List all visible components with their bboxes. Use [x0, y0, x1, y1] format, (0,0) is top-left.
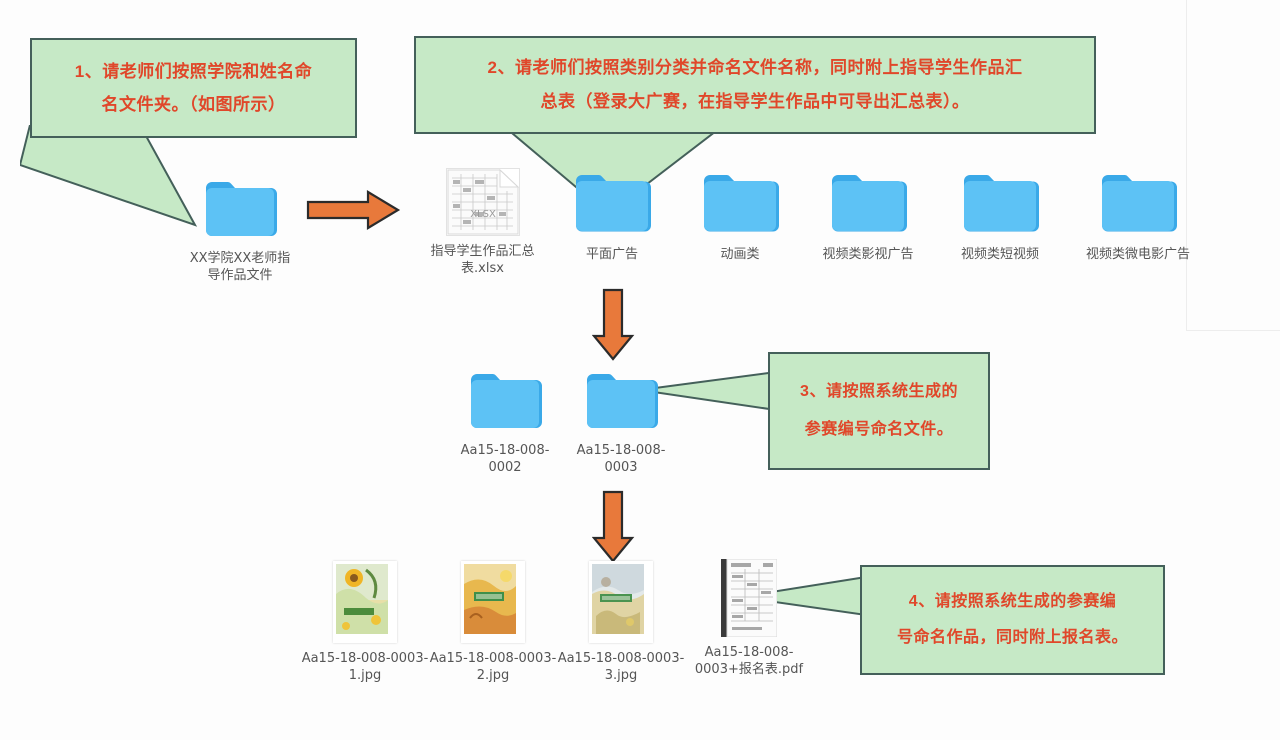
callout-2[interactable]: 2、请老师们按照类别分类并命名文件名称，同时附上指导学生作品汇 总表（登录大广赛…: [414, 36, 1096, 134]
entry-folder-label-1: Aa15-18-008-0003: [561, 442, 681, 476]
jpg-image-icon: [589, 561, 653, 643]
xlsx-file-icon: XLSX: [446, 168, 520, 236]
callout-1-text: 1、请老师们按照学院和姓名命 名文件夹。（如图所示）: [48, 55, 339, 121]
callout-4[interactable]: 4、请按照系统生成的参赛编 号命名作品，同时附上报名表。: [860, 565, 1165, 675]
category-folder-label-4: 视频类微电影广告: [1068, 246, 1208, 263]
entry-folder-item-1[interactable]: Aa15-18-008-0003: [563, 368, 679, 476]
artwork-file-label-3: Aa15-18-008-0003+报名表.pdf: [679, 644, 819, 678]
root-folder-label: XX学院XX老师指 导作品文件: [170, 250, 310, 284]
artwork-file-item-2[interactable]: Aa15-18-008-0003-3.jpg: [557, 561, 685, 684]
category-folder-item-3[interactable]: 视频类短视频: [936, 168, 1064, 263]
folder-icon: [701, 168, 779, 239]
callout-4-text: 4、请按照系统生成的参赛编 号命名作品，同时附上报名表。: [874, 584, 1151, 656]
panel-divider-top: [1186, 330, 1280, 331]
entry-folder-item-0[interactable]: Aa15-18-008-0002: [447, 368, 563, 476]
flowchart-canvas: 1、请老师们按照学院和姓名命 名文件夹。（如图所示） 2、请老师们按照类别分类并…: [0, 0, 1280, 740]
arrow-down-entries-to-files: [592, 490, 636, 564]
folder-icon: [584, 368, 658, 435]
callout-1[interactable]: 1、请老师们按照学院和姓名命 名文件夹。（如图所示）: [30, 38, 357, 138]
arrow-down-categories-to-entries: [592, 288, 636, 362]
jpg-image-icon: [333, 561, 397, 643]
category-folder-label-2: 视频类影视广告: [803, 246, 933, 263]
callout-2-text: 2、请老师们按照类别分类并命名文件名称，同时附上指导学生作品汇 总表（登录大广赛…: [430, 51, 1080, 119]
callout-3-text: 3、请按照系统生成的 参赛编号命名文件。: [770, 373, 988, 449]
summary-file-item[interactable]: XLSX 指导学生作品汇总 表.xlsx: [415, 168, 550, 277]
category-folder-label-1: 动画类: [680, 246, 800, 263]
category-folder-item-4[interactable]: 视频类微电影广告: [1068, 168, 1208, 263]
root-folder-item[interactable]: XX学院XX老师指 导作品文件: [145, 176, 335, 284]
folder-icon: [203, 176, 277, 243]
panel-divider-right: [1186, 0, 1187, 330]
artwork-file-label-0: Aa15-18-008-0003-1.jpg: [300, 650, 430, 684]
artwork-file-item-0[interactable]: Aa15-18-008-0003-1.jpg: [301, 561, 429, 684]
artwork-file-label-2: Aa15-18-008-0003-3.jpg: [556, 650, 686, 684]
artwork-file-item-3[interactable]: Aa15-18-008-0003+报名表.pdf: [681, 559, 817, 678]
folder-icon: [468, 368, 542, 435]
jpg-image-icon: [461, 561, 525, 643]
folder-icon: [961, 168, 1039, 239]
summary-file-label: 指导学生作品汇总 表.xlsx: [418, 243, 548, 277]
category-folder-item-1[interactable]: 动画类: [676, 168, 804, 263]
folder-icon: [829, 168, 907, 239]
artwork-file-item-1[interactable]: Aa15-18-008-0003-2.jpg: [429, 561, 557, 684]
artwork-file-label-1: Aa15-18-008-0003-2.jpg: [428, 650, 558, 684]
category-folder-label-0: 平面广告: [552, 246, 672, 263]
callout-3[interactable]: 3、请按照系统生成的 参赛编号命名文件。: [768, 352, 990, 470]
category-folder-label-3: 视频类短视频: [935, 246, 1065, 263]
category-folder-item-0[interactable]: 平面广告: [548, 168, 676, 263]
entry-folder-label-0: Aa15-18-008-0002: [445, 442, 565, 476]
svg-text:XLSX: XLSX: [470, 209, 496, 220]
category-folder-item-2[interactable]: 视频类影视广告: [804, 168, 932, 263]
folder-icon: [1099, 168, 1177, 239]
pdf-file-icon: [721, 559, 777, 637]
folder-icon: [573, 168, 651, 239]
